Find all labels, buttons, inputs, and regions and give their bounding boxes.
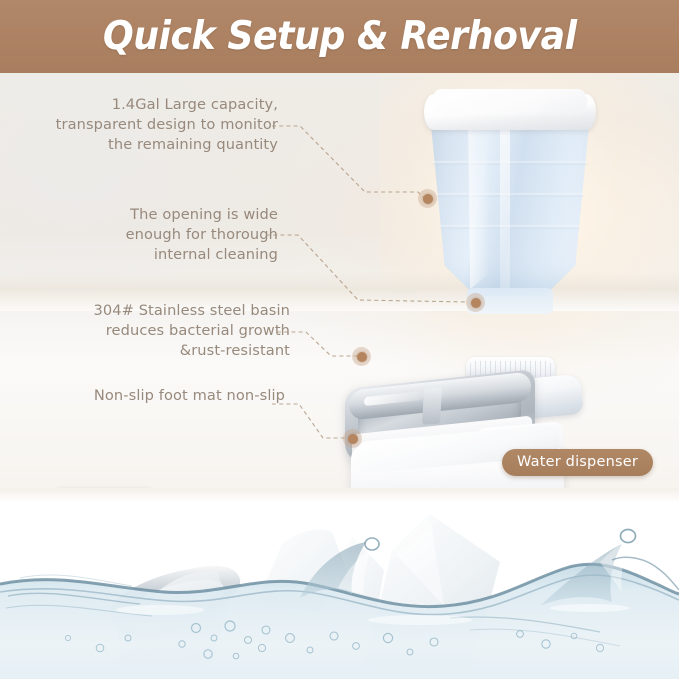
water-splash-illustration [0, 488, 679, 679]
tank-ridge-lower [440, 225, 580, 229]
callout-opening: The opening is wide enough for thorough … [10, 205, 278, 265]
callout-basin: 304# Stainless steel basin reduces bacte… [10, 301, 290, 361]
tank-lid-top [432, 89, 587, 114]
tank-highlight [500, 113, 510, 288]
connector-dot-capacity [418, 189, 437, 208]
header-band: Quick Setup & Rerhoval [0, 0, 679, 73]
connector-dot-opening [466, 293, 485, 312]
water-splash-photo [0, 488, 679, 679]
basin-divider [422, 387, 442, 424]
product-scene: Water dispenser 1.4Gal Large capacity, t… [0, 73, 679, 488]
water-tank [424, 106, 596, 296]
infographic-page: Quick Setup & Rerhoval [0, 0, 679, 679]
page-title: Quick Setup & Rerhoval [103, 14, 577, 59]
callout-foot-mat: Non-slip foot mat non-slip [10, 386, 285, 406]
tank-ridge-upper [432, 161, 588, 165]
tank-inner-shade [468, 111, 490, 289]
callout-capacity: 1.4Gal Large capacity, transparent desig… [10, 95, 278, 155]
tank-ridge-mid [436, 193, 584, 197]
water-dispenser-badge: Water dispenser [502, 449, 653, 476]
connector-dot-foot-mat [343, 429, 362, 448]
water-band-top-fade [0, 488, 679, 502]
connector-dot-basin [352, 347, 371, 366]
